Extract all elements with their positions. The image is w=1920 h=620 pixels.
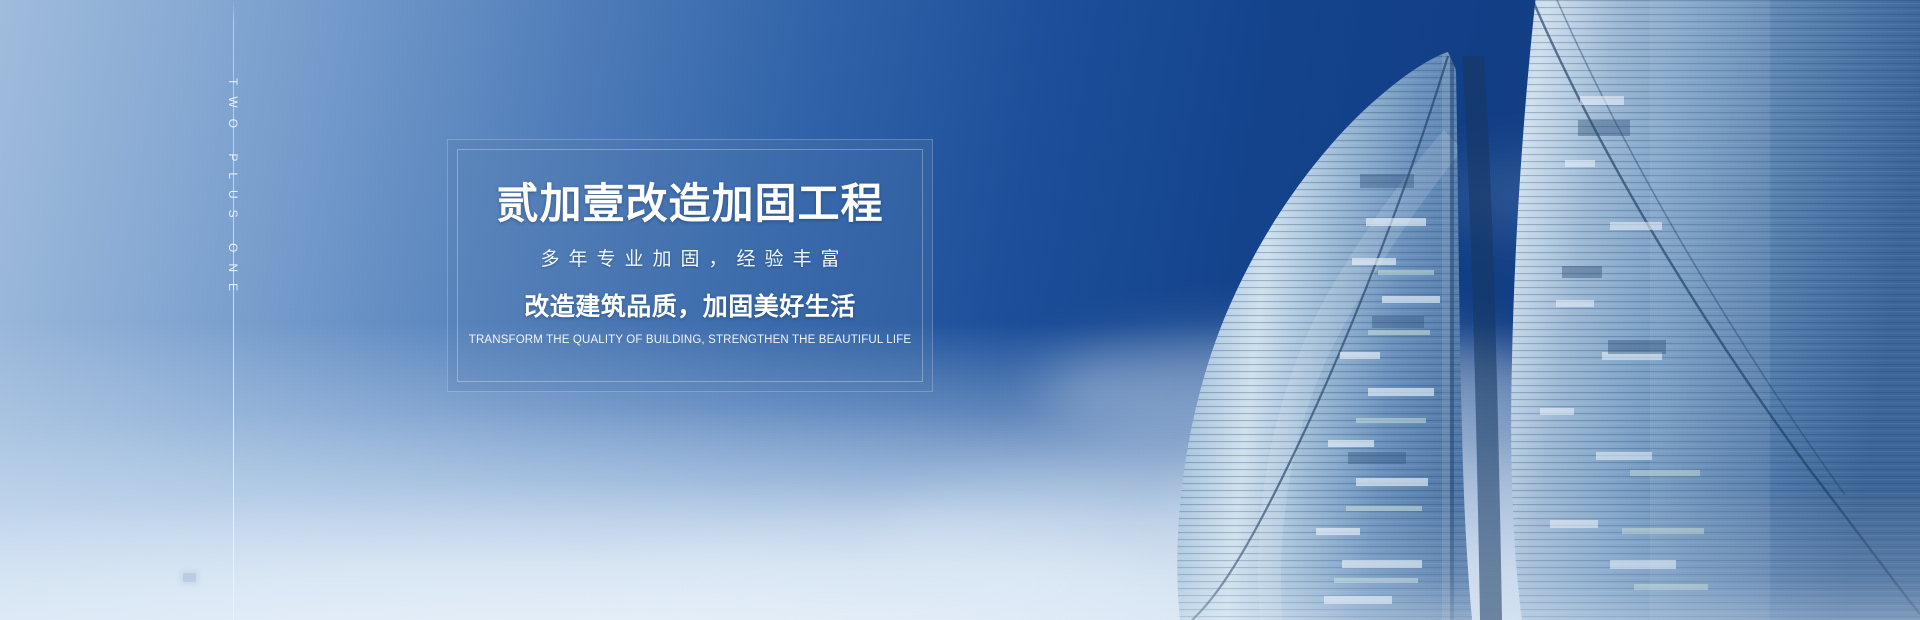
hero-tagline-chinese: 改造建筑品质，加固美好生活: [448, 292, 932, 322]
rail-marker-icon: [183, 573, 196, 582]
vertical-brand-text: TWO PLUS ONE: [226, 78, 240, 302]
photo-grain-overlay: [0, 0, 1920, 620]
hero-text-panel: 贰加壹改造加固工程 多年专业加固，经验丰富 改造建筑品质，加固美好生活 TRAN…: [447, 139, 933, 392]
hero-text-group: 贰加壹改造加固工程 多年专业加固，经验丰富 改造建筑品质，加固美好生活 TRAN…: [448, 180, 932, 346]
hero-subheadline: 多年专业加固，经验丰富: [448, 248, 932, 273]
hero-banner: TWO PLUS ONE 贰加壹改造加固工程 多年专业加固，经验丰富 改造建筑品…: [0, 0, 1920, 620]
hero-headline: 贰加壹改造加固工程: [448, 180, 932, 227]
hero-tagline-english: TRANSFORM THE QUALITY OF BUILDING, STREN…: [448, 334, 932, 346]
